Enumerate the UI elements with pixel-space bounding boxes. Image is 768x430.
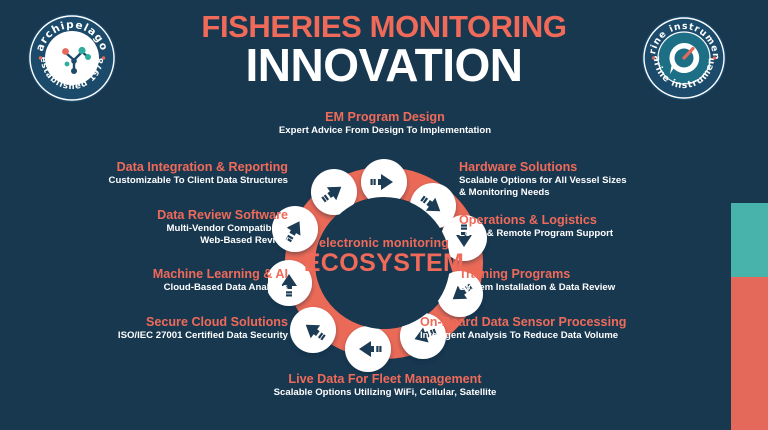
header: archipelago established 1978 bbox=[0, 0, 768, 100]
label-title: Secure Cloud Solutions bbox=[58, 315, 288, 330]
infographic-canvas: archipelago established 1978 bbox=[0, 0, 768, 430]
label-title: Data Integration & Reporting bbox=[58, 160, 288, 175]
label-hardware-solutions: Hardware Solutions Scalable Options for … bbox=[459, 160, 709, 199]
label-training-programs: Training Programs System Installation & … bbox=[459, 267, 709, 294]
label-onboard-data-sensor-processing: On-Board Data Sensor Processing Intellig… bbox=[420, 315, 710, 342]
label-subtitle-1: Local & Remote Program Support bbox=[459, 228, 709, 240]
label-data-integration-reporting: Data Integration & Reporting Customizabl… bbox=[58, 160, 288, 187]
label-subtitle-1: Customizable To Client Data Structures bbox=[58, 175, 288, 187]
archipelago-logo: archipelago established 1978 bbox=[26, 12, 118, 104]
page-title: FISHERIES MONITORING INNOVATION bbox=[158, 10, 610, 88]
label-subtitle-1: Expert Advice From Design To Implementat… bbox=[200, 125, 570, 137]
label-live-data-fleet-management: Live Data For Fleet Management Scalable … bbox=[200, 372, 570, 399]
label-title: Hardware Solutions bbox=[459, 160, 709, 175]
label-subtitle-1: System Installation & Data Review bbox=[459, 282, 709, 294]
ring-node-7 bbox=[290, 307, 336, 353]
label-subtitle-1: Intelligent Analysis To Reduce Data Volu… bbox=[420, 330, 710, 342]
label-subtitle-1: Scalable Options for All Vessel Sizes bbox=[459, 175, 709, 187]
label-title: On-Board Data Sensor Processing bbox=[420, 315, 710, 330]
label-subtitle-1: Multi-Vendor Compatibility bbox=[58, 223, 288, 235]
label-title: EM Program Design bbox=[200, 110, 570, 125]
ring-inner-fill bbox=[318, 197, 450, 329]
label-subtitle-1: Cloud-Based Data Analysis bbox=[58, 282, 288, 294]
label-operations-logistics: Operations & Logistics Local & Remote Pr… bbox=[459, 213, 709, 240]
label-title: Data Review Software bbox=[58, 208, 288, 223]
label-secure-cloud-solutions: Secure Cloud Solutions ISO/IEC 27001 Cer… bbox=[58, 315, 288, 342]
label-subtitle-2: Web-Based Review bbox=[58, 235, 288, 247]
label-em-program-design: EM Program Design Expert Advice From Des… bbox=[200, 110, 570, 137]
title-line-2: INNOVATION bbox=[158, 42, 610, 88]
label-machine-learning-ai: Machine Learning & AI Cloud-Based Data A… bbox=[58, 267, 288, 294]
label-subtitle-2: & Monitoring Needs bbox=[459, 187, 709, 199]
label-title: Live Data For Fleet Management bbox=[200, 372, 570, 387]
label-title: Machine Learning & AI bbox=[58, 267, 288, 282]
label-data-review-software: Data Review Software Multi-Vendor Compat… bbox=[58, 208, 288, 247]
label-subtitle-1: Scalable Options Utilizing WiFi, Cellula… bbox=[200, 387, 570, 399]
edge-accent-block-teal bbox=[731, 203, 768, 277]
label-title: Operations & Logistics bbox=[459, 213, 709, 228]
label-subtitle-1: ISO/IEC 27001 Certified Data Security bbox=[58, 330, 288, 342]
ring-node-6 bbox=[345, 326, 391, 372]
marine-instruments-logo: marine instruments marine instruments bbox=[640, 14, 728, 102]
edge-accent-block-coral bbox=[731, 277, 768, 430]
label-title: Training Programs bbox=[459, 267, 709, 282]
